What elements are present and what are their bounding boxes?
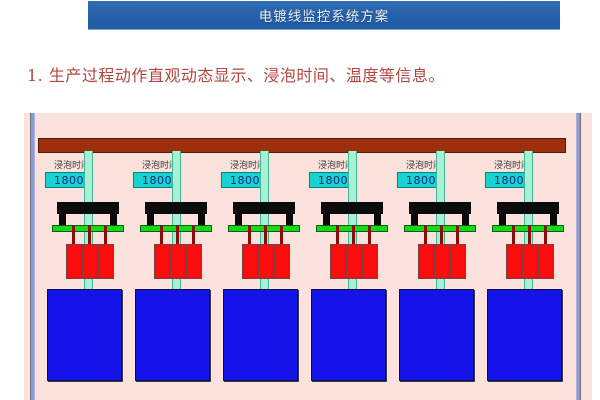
plating-tank[interactable] xyxy=(399,289,474,381)
soak-time-label: 浸泡时间 xyxy=(41,158,103,171)
workpiece-rack-3 xyxy=(274,244,290,279)
crane-head xyxy=(409,202,471,214)
plating-tank[interactable] xyxy=(47,289,122,381)
workpiece-rack-2 xyxy=(434,244,450,279)
crane-head xyxy=(321,202,383,214)
workpiece-rack-1 xyxy=(330,244,346,279)
plating-tank[interactable] xyxy=(223,289,298,381)
workpiece-rack-1 xyxy=(506,244,522,279)
workpiece-rack-3 xyxy=(450,244,466,279)
soak-time-label: 浸泡时间 xyxy=(481,158,543,171)
workpiece-rack-1 xyxy=(66,244,82,279)
soak-time-label: 浸泡时间 xyxy=(129,158,191,171)
hmi-screenshot-panel: 浸泡时间1800浸泡时间1800浸泡时间1800浸泡时间1800浸泡时间1800… xyxy=(24,113,592,400)
workpiece-rack-3 xyxy=(538,244,554,279)
slide-title-text: 电镀线监控系统方案 xyxy=(259,5,390,25)
workpiece-rack-3 xyxy=(98,244,114,279)
workpiece-rack-1 xyxy=(242,244,258,279)
workpiece-rack-2 xyxy=(170,244,186,279)
workpiece-rack-2 xyxy=(82,244,98,279)
plating-station-5[interactable]: 浸泡时间1800 xyxy=(393,113,483,400)
workpiece-rack-2 xyxy=(522,244,538,279)
workpiece-rack-3 xyxy=(186,244,202,279)
plating-station-6[interactable]: 浸泡时间1800 xyxy=(481,113,571,400)
plating-station-2[interactable]: 浸泡时间1800 xyxy=(129,113,219,400)
crane-head xyxy=(233,202,295,214)
plating-tank[interactable] xyxy=(311,289,386,381)
crane-head xyxy=(145,202,207,214)
soak-time-label: 浸泡时间 xyxy=(393,158,455,171)
slide-title-bar: 电镀线监控系统方案 xyxy=(88,1,560,30)
panel-right-border xyxy=(576,113,581,400)
slide-heading: 1. 生产过程动作直观动态显示、浸泡时间、温度等信息。 xyxy=(27,62,445,86)
soak-time-label: 浸泡时间 xyxy=(305,158,367,171)
workpiece-rack-1 xyxy=(154,244,170,279)
plating-station-1[interactable]: 浸泡时间1800 xyxy=(41,113,131,400)
plating-station-4[interactable]: 浸泡时间1800 xyxy=(305,113,395,400)
panel-left-border xyxy=(30,113,35,400)
workpiece-rack-2 xyxy=(346,244,362,279)
crane-head xyxy=(57,202,119,214)
soak-time-label: 浸泡时间 xyxy=(217,158,279,171)
crane-head xyxy=(497,202,559,214)
plating-tank[interactable] xyxy=(487,289,562,381)
workpiece-rack-3 xyxy=(362,244,378,279)
plating-station-3[interactable]: 浸泡时间1800 xyxy=(217,113,307,400)
workpiece-rack-2 xyxy=(258,244,274,279)
workpiece-rack-1 xyxy=(418,244,434,279)
plating-tank[interactable] xyxy=(135,289,210,381)
